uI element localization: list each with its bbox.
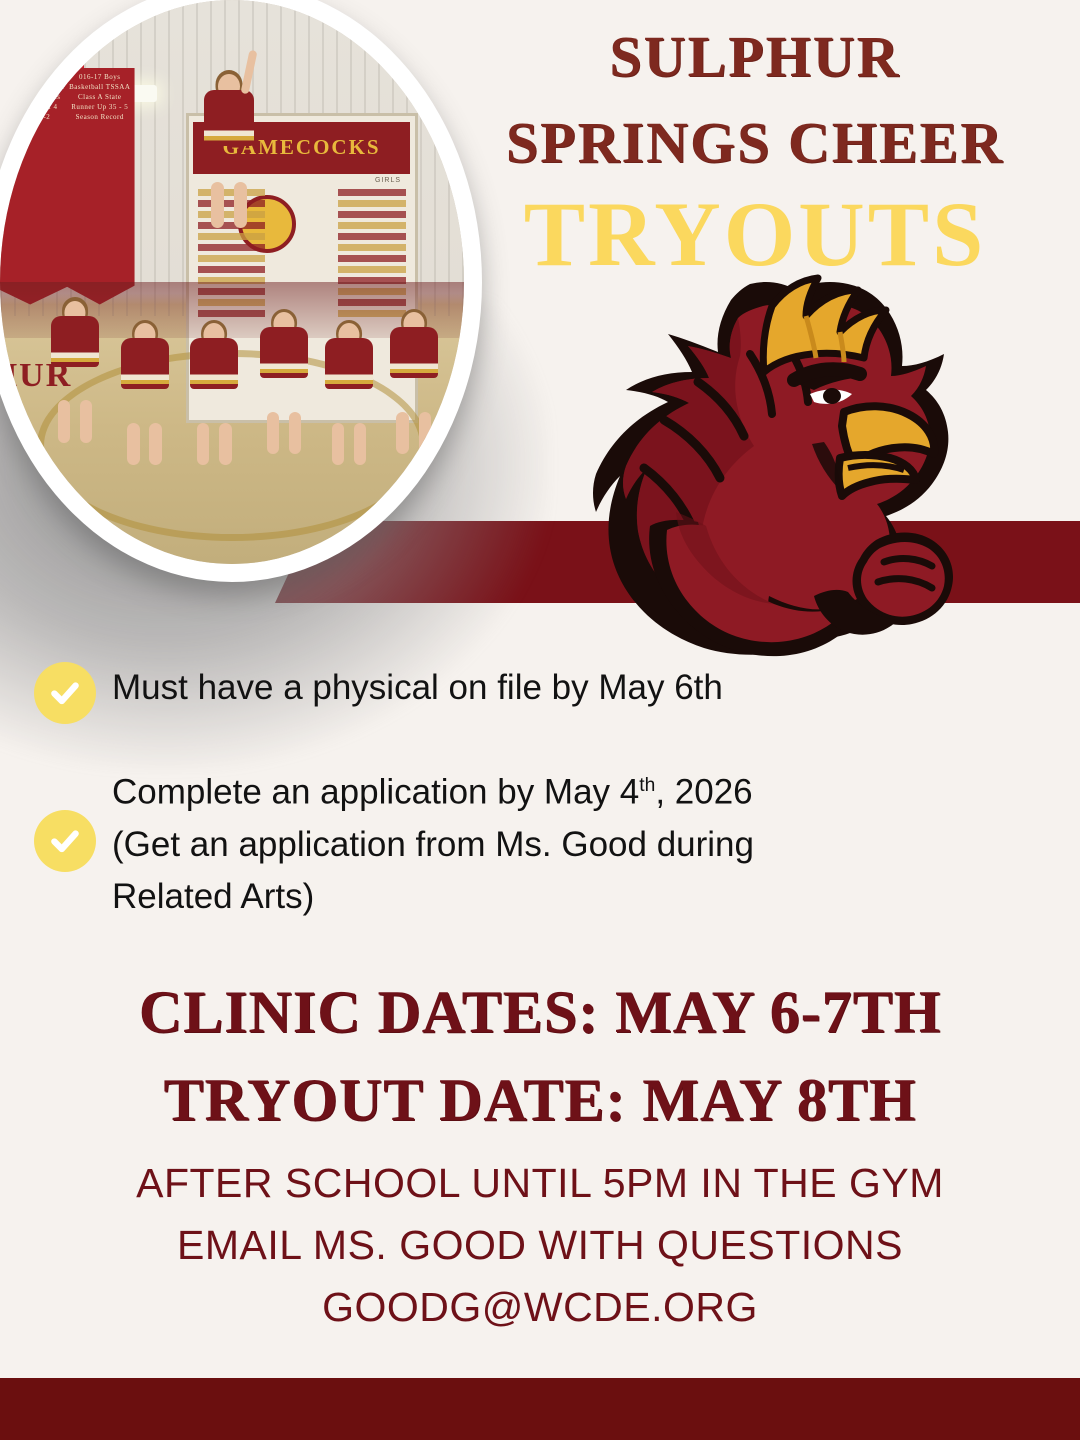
- cheer-photo: 0-2021 Basketball Season Champions A Are…: [0, 0, 482, 582]
- flyer-footer: AFTER SCHOOL UNTIL 5PM IN THE GYM EMAIL …: [0, 1152, 1080, 1338]
- cheerleader-flyer: [204, 90, 254, 186]
- check-icon: [34, 662, 96, 724]
- key-dates: CLINIC DATES: MAY 6-7TH TRYOUT DATE: MAY…: [0, 968, 1080, 1144]
- list-item: Must have a physical on file by May 6th: [34, 660, 994, 724]
- clinic-dates: CLINIC DATES: MAY 6-7TH: [0, 968, 1080, 1056]
- cheerleader-base: [260, 327, 308, 415]
- flyer-canvas: 0-2021 Basketball Season Champions A Are…: [0, 0, 1080, 1440]
- championship-pennant-1: 0-2021 Basketball Season Champions A Are…: [0, 68, 70, 305]
- requirements-list: Must have a physical on file by May 6th …: [34, 660, 994, 923]
- requirement-text-line2: (Get an application from Ms. Good during: [112, 825, 754, 864]
- flyer-headline: SULPHUR SPRINGS CHEER TRYOUTS: [430, 0, 1080, 282]
- cheerleader-base: [325, 338, 373, 426]
- headline-line-3: TRYOUTS: [430, 186, 1080, 282]
- photo-image: 0-2021 Basketball Season Champions A Are…: [0, 0, 464, 564]
- headline-line-1: SULPHUR: [430, 14, 1080, 100]
- tryout-date: TRYOUT DATE: MAY 8TH: [0, 1056, 1080, 1144]
- requirement-text: Must have a physical on file by May 6th: [112, 660, 723, 714]
- cheerleader-base: [390, 327, 438, 415]
- cheerleader-base: [51, 316, 99, 404]
- footer-schedule: AFTER SCHOOL UNTIL 5PM IN THE GYM: [0, 1152, 1080, 1214]
- footer-contact-prompt: EMAIL MS. GOOD WITH QUESTIONS: [0, 1214, 1080, 1276]
- requirement-text-year: , 2026: [655, 773, 752, 812]
- cheerleader-base: [121, 338, 169, 426]
- ordinal-suffix: th: [639, 775, 655, 796]
- requirement-text-main: Must have a physical on file by May 6th: [112, 668, 723, 707]
- footer-email[interactable]: GOODG@WCDE.ORG: [0, 1276, 1080, 1338]
- cheerleader-base: [190, 338, 238, 426]
- requirement-text-main: Complete an application by May 4: [112, 773, 639, 812]
- requirement-text-line3: Related Arts): [112, 877, 314, 916]
- gamecock-mascot-icon: [548, 262, 998, 662]
- check-icon: [34, 810, 96, 872]
- headline-line-2: SPRINGS CHEER: [430, 100, 1080, 186]
- championship-pennant-2: 016-17 Boys Basketball TSSAA Class A Sta…: [65, 68, 135, 305]
- bottom-accent-bar: [0, 1378, 1080, 1440]
- record-board-label: GIRLS: [375, 177, 401, 184]
- list-item: Complete an application by May 4th, 2026…: [34, 758, 994, 923]
- requirement-text: Complete an application by May 4th, 2026…: [112, 758, 754, 923]
